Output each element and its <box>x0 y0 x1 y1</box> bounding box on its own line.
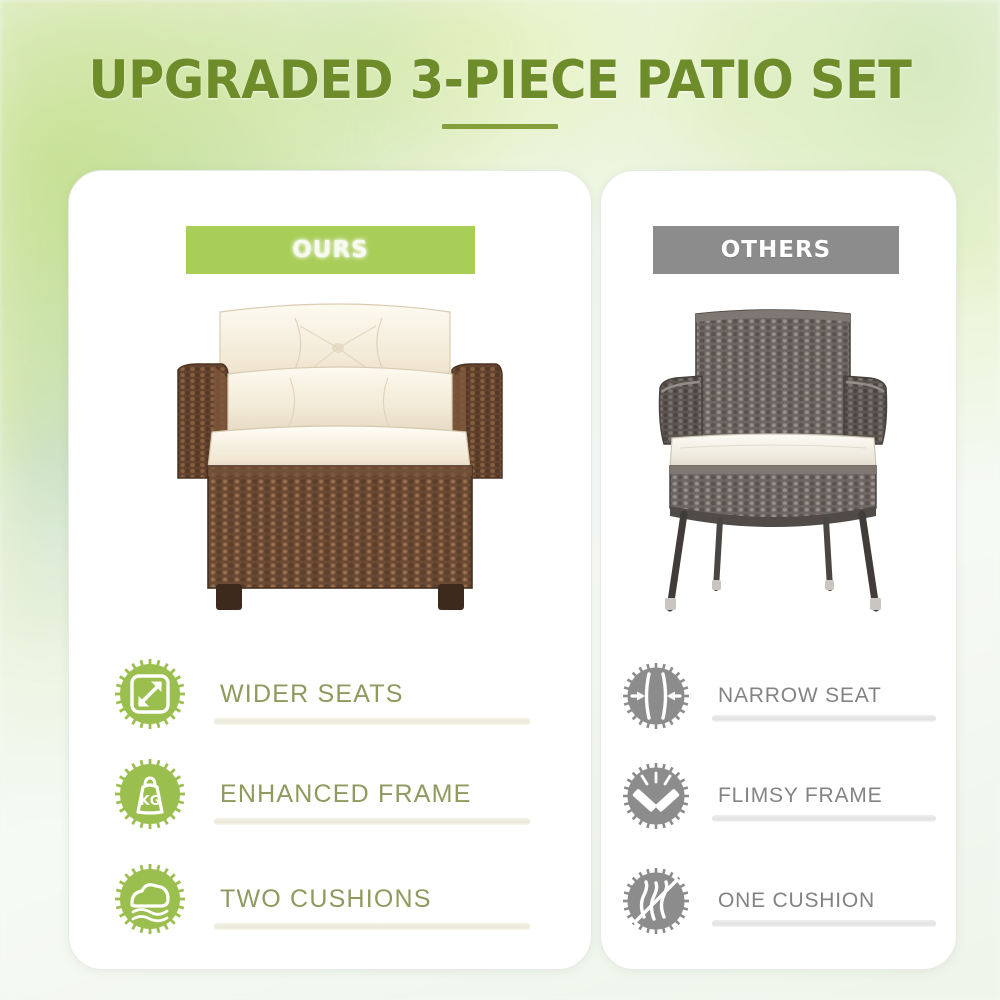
feature-row-wider-seats: WIDER SEATS <box>112 648 524 740</box>
feature-row-enhanced-frame: KG ENHANCED FRAME <box>112 748 524 840</box>
feature-divider <box>712 715 936 722</box>
feature-divider <box>214 718 530 725</box>
feature-body: FLIMSY FRAME <box>714 784 932 808</box>
cushion-waves-icon <box>112 861 188 937</box>
feature-label-one-cushion: ONE CUSHION <box>714 889 875 912</box>
feature-body: ONE CUSHION <box>714 889 932 913</box>
feature-body: TWO CUSHIONS <box>214 885 524 914</box>
feature-label-enhanced-frame: ENHANCED FRAME <box>214 780 472 808</box>
broken-frame-icon <box>620 760 692 832</box>
feature-row-one-cushion: ONE CUSHION <box>620 855 932 947</box>
feature-label-wider-seats: WIDER SEATS <box>214 680 404 708</box>
weight-kg-icon: KG <box>112 756 188 832</box>
banner-ours: OURS <box>186 226 475 274</box>
feature-row-flimsy-frame: FLIMSY FRAME <box>620 750 932 842</box>
feature-label-two-cushions: TWO CUSHIONS <box>214 885 432 913</box>
no-cushion-waves-icon <box>620 865 692 937</box>
feature-body: ENHANCED FRAME <box>214 780 524 809</box>
banner-ours-label: OURS <box>292 237 369 263</box>
banner-others-label: OTHERS <box>721 237 831 263</box>
banner-others: OTHERS <box>653 226 899 274</box>
feature-body: NARROW SEAT <box>714 684 932 708</box>
page-title: UPGRADED 3-PIECE PATIO SET <box>35 52 965 110</box>
feature-label-flimsy-frame: FLIMSY FRAME <box>714 784 882 807</box>
feature-divider <box>712 815 936 822</box>
title-underline <box>442 124 558 129</box>
feature-row-two-cushions: TWO CUSHIONS <box>112 853 524 945</box>
feature-divider <box>214 818 530 825</box>
feature-divider <box>214 923 530 930</box>
feature-body: WIDER SEATS <box>214 680 524 709</box>
header: UPGRADED 3-PIECE PATIO SET <box>0 52 1000 129</box>
feature-label-narrow-seat: NARROW SEAT <box>714 684 882 707</box>
feature-divider <box>712 920 936 927</box>
expand-arrows-icon <box>112 656 188 732</box>
product-image-ours <box>150 282 530 622</box>
feature-row-narrow-seat: NARROW SEAT <box>620 650 932 742</box>
product-image-others <box>628 292 918 622</box>
svg-text:KG: KG <box>140 794 161 809</box>
compress-arrows-icon <box>620 660 692 732</box>
